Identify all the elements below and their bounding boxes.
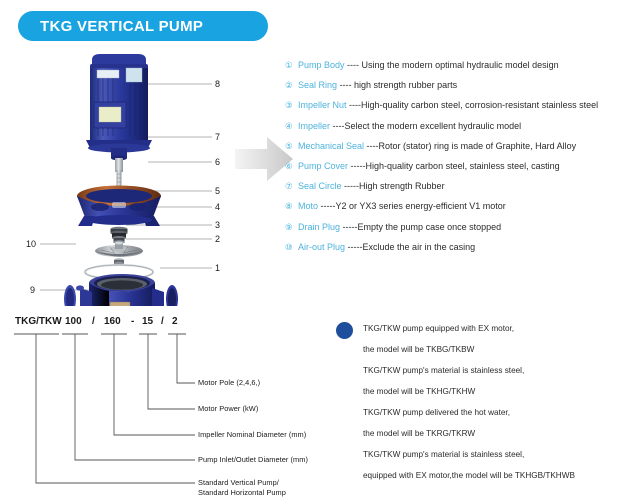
part-item-4: ④ Impeller ---- Select the modern excell… bbox=[285, 121, 617, 141]
part-number: ④ bbox=[285, 121, 298, 132]
model-label-series-2: Standard Horizontal Pump bbox=[198, 488, 286, 497]
part-name: Drain Plug bbox=[298, 222, 340, 232]
part-number: ② bbox=[285, 80, 298, 91]
callout-5: 5 bbox=[215, 186, 220, 196]
part-dash: ---- bbox=[345, 60, 362, 70]
callout-4: 4 bbox=[215, 202, 220, 212]
part-item-8: ⑧ Moto ----- Y2 or YX3 series energy-eff… bbox=[285, 201, 617, 221]
part-name: Impeller Nut bbox=[298, 100, 347, 110]
callout-10: 10 bbox=[26, 239, 36, 249]
part-dash: ---- bbox=[337, 80, 354, 90]
model-label-series-1: Standard Vertical Pump/ bbox=[198, 478, 279, 487]
part-number: ⑧ bbox=[285, 201, 298, 212]
part-dash: ----- bbox=[340, 222, 358, 232]
part-item-5: ⑤ Mechanical Seal ---- Rotor (stator) ri… bbox=[285, 141, 617, 161]
callout-6: 6 bbox=[215, 157, 220, 167]
part-number: ③ bbox=[285, 100, 298, 111]
part-desc: High-quality carbon steel, stainless ste… bbox=[366, 161, 560, 171]
callout-7: 7 bbox=[215, 132, 220, 142]
part-item-3: ③ Impeller Nut ---- High-quality carbon … bbox=[285, 100, 617, 120]
variant-line-7: TKG/TKW pump's material is stainless ste… bbox=[332, 444, 617, 465]
callout-9: 9 bbox=[30, 285, 35, 295]
page-title: TKG VERTICAL PUMP bbox=[40, 18, 203, 35]
model-variants: TKG/TKW pump equipped with EX motor, the… bbox=[332, 318, 617, 486]
pump-spec-sheet: TKG VERTICAL PUMP bbox=[0, 0, 617, 500]
callout-2: 2 bbox=[215, 234, 220, 244]
part-desc: High-quality carbon steel, corrosion-res… bbox=[361, 100, 598, 110]
part-dash: ---- bbox=[364, 141, 379, 151]
part-item-7: ⑦ Seal Circle ----- High strength Rubber bbox=[285, 181, 617, 201]
part-number: ⑩ bbox=[285, 242, 298, 253]
variant-line-1: TKG/TKW pump equipped with EX motor, bbox=[332, 318, 617, 339]
page-title-banner: TKG VERTICAL PUMP bbox=[18, 11, 268, 41]
part-desc: Empty the pump case once stopped bbox=[358, 222, 502, 232]
part-number: ⑦ bbox=[285, 181, 298, 192]
variant-line-4: the model will be TKHG/TKHW bbox=[332, 381, 617, 402]
part-name: Impeller bbox=[298, 121, 330, 131]
part-desc: Y2 or YX3 series energy-efficient V1 mot… bbox=[336, 201, 506, 211]
callout-3: 3 bbox=[215, 220, 220, 230]
part-item-6: ⑥ Pump Cover ----- High-quality carbon s… bbox=[285, 161, 617, 181]
part-dash: ----- bbox=[348, 161, 366, 171]
part-number: ① bbox=[285, 60, 298, 71]
part-dash: ---- bbox=[347, 100, 362, 110]
part-number: ⑨ bbox=[285, 222, 298, 233]
part-desc: Select the modern excellent hydraulic mo… bbox=[345, 121, 522, 131]
parts-list: ① Pump Body ---- Using the modern optima… bbox=[285, 60, 617, 262]
variant-line-3: TKG/TKW pump's material is stainless ste… bbox=[332, 360, 617, 381]
part-dash: ----- bbox=[318, 201, 336, 211]
variant-line-5: TKG/TKW pump delivered the hot water, bbox=[332, 402, 617, 423]
part-name: Pump Cover bbox=[298, 161, 348, 171]
part-item-1: ① Pump Body ---- Using the modern optima… bbox=[285, 60, 617, 80]
part-dash: ---- bbox=[330, 121, 345, 131]
part-name: Seal Ring bbox=[298, 80, 337, 90]
part-name: Seal Circle bbox=[298, 181, 342, 191]
callout-8: 8 bbox=[215, 79, 220, 89]
part-item-2: ② Seal Ring ---- high strength rubber pa… bbox=[285, 80, 617, 100]
part-name: Mechanical Seal bbox=[298, 141, 364, 151]
callout-1: 1 bbox=[215, 263, 220, 273]
part-desc: high strength rubber parts bbox=[354, 80, 457, 90]
part-name: Air-out Plug bbox=[298, 242, 345, 252]
part-item-9: ⑨ Drain Plug ----- Empty the pump case o… bbox=[285, 222, 617, 242]
model-code-leaders bbox=[0, 310, 320, 500]
variant-line-2: the model will be TKBG/TKBW bbox=[332, 339, 617, 360]
part-dash: ----- bbox=[342, 181, 360, 191]
variant-line-6: the model will be TKRG/TKRW bbox=[332, 423, 617, 444]
part-number: ⑥ bbox=[285, 161, 298, 172]
part-desc: Rotor (stator) ring is made of Graphite,… bbox=[379, 141, 577, 151]
bullet-dot-icon bbox=[336, 322, 353, 339]
model-label-pole: Motor Pole (2,4,6,) bbox=[198, 378, 260, 387]
part-name: Pump Body bbox=[298, 60, 345, 70]
part-item-10: ⑩ Air-out Plug ----- Exclude the air in … bbox=[285, 242, 617, 262]
model-code-breakdown: TKG/TKW 100 / 160 - 15 / 2 bbox=[0, 310, 320, 500]
model-label-inlet: Pump Inlet/Outlet Diameter (mm) bbox=[198, 455, 308, 464]
model-label-power: Motor Power (kW) bbox=[198, 404, 258, 413]
part-number: ⑤ bbox=[285, 141, 298, 152]
variant-line-8: equipped with EX motor,the model will be… bbox=[332, 465, 617, 486]
part-desc: Exclude the air in the casing bbox=[363, 242, 476, 252]
part-desc: Using the modern optimal hydraulic model… bbox=[362, 60, 559, 70]
part-name: Moto bbox=[298, 201, 318, 211]
model-label-impeller: Impeller Nominal Diameter (mm) bbox=[198, 430, 306, 439]
pump-diagram: 8 7 6 5 4 3 2 1 10 9 bbox=[0, 44, 240, 306]
part-desc: High strength Rubber bbox=[359, 181, 445, 191]
pump-diagram-svg bbox=[0, 44, 240, 306]
part-dash: ----- bbox=[345, 242, 363, 252]
